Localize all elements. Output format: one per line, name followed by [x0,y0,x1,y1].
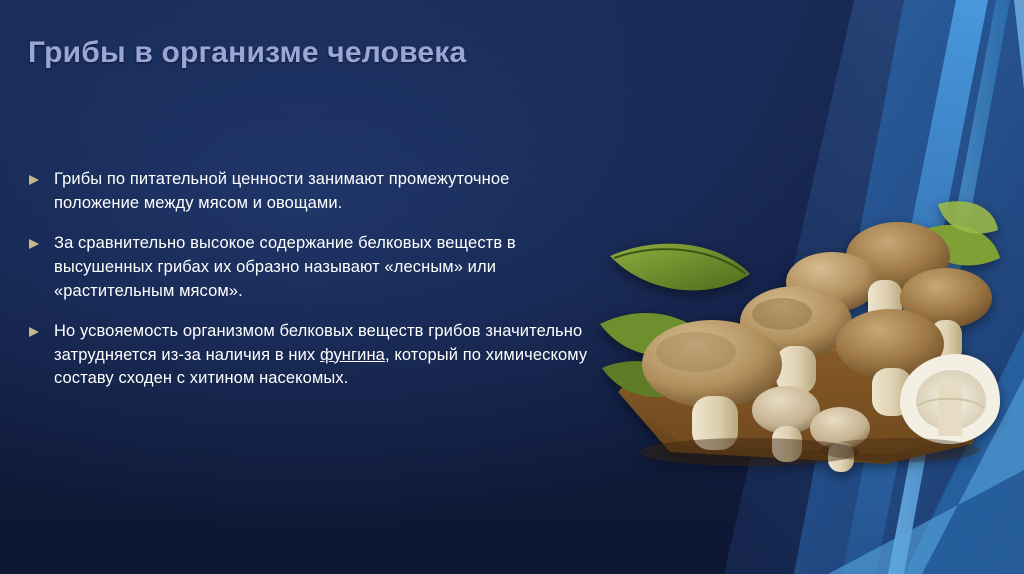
triangle-bullet-icon [28,174,42,186]
list-item: За сравнительно высокое содержание белко… [28,232,588,304]
list-item: Грибы по питательной ценности занимают п… [28,168,588,216]
presentation-slide: Грибы в организме человека Грибы по пита… [0,0,1024,574]
triangle-bullet-icon [28,326,42,338]
list-item: Но усвояемость организмом белковых вещес… [28,320,588,392]
triangle-bullet-icon [28,238,42,250]
mushrooms-photo [600,196,1000,476]
bullet-list: Грибы по питательной ценности занимают п… [28,168,588,407]
page-title: Грибы в организме человека [28,36,466,70]
list-item-term-fungin: фунгина [320,346,385,364]
list-item-text: За сравнительно высокое содержание белко… [54,232,588,304]
list-item-text: Грибы по питательной ценности занимают п… [54,168,588,216]
list-item-text: Но усвояемость организмом белковых вещес… [54,320,588,392]
